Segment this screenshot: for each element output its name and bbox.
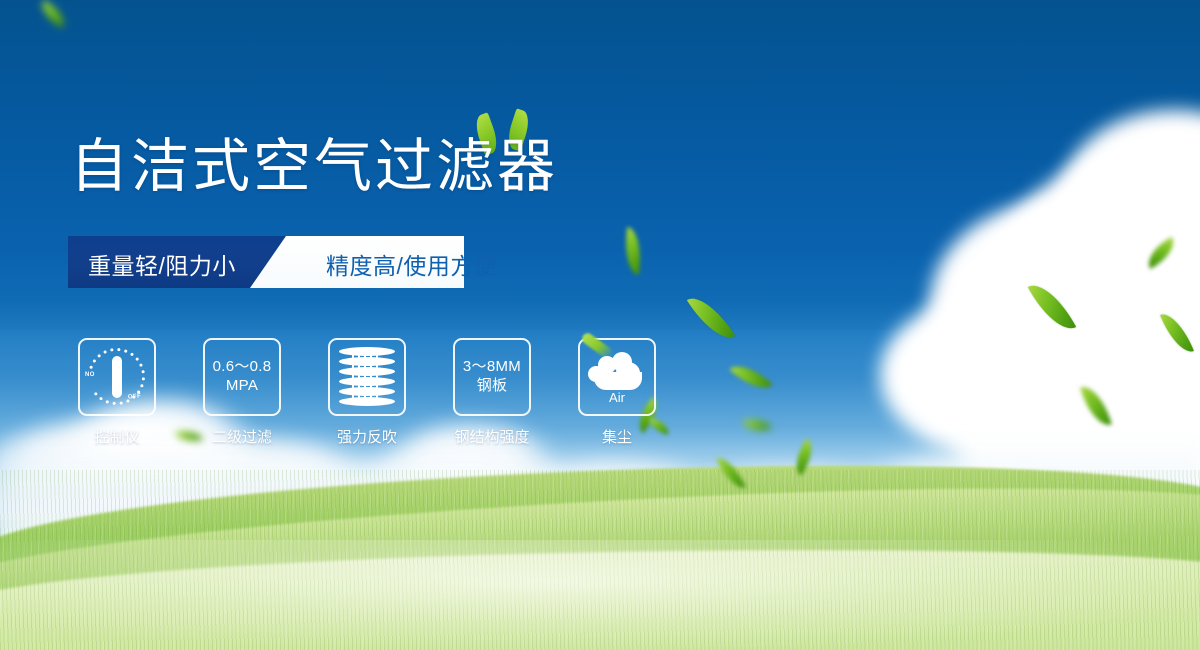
- feature-item-strong-blowback[interactable]: 强力反吹: [328, 338, 406, 447]
- feature-icon-box: [328, 338, 406, 416]
- feature-icon-box: NO OFF: [78, 338, 156, 416]
- pressure-value-icon: 0.6～0.8 MPA: [213, 358, 272, 396]
- feature-label: 钢结构强度: [454, 426, 529, 447]
- feature-item-dust-collection[interactable]: Air 集尘: [578, 338, 656, 447]
- feature-item-two-stage-filter[interactable]: 0.6～0.8 MPA 二级过滤: [203, 338, 281, 447]
- steel-material: 钢板: [463, 377, 521, 396]
- steel-plate-icon: 3～8MM 钢板: [463, 358, 521, 396]
- feature-item-controller[interactable]: NO OFF 控制仪: [78, 338, 156, 447]
- product-banner: 自洁式空气过滤器 重量轻/阻力小 精度高/使用方便: [0, 0, 1200, 650]
- feature-list: NO OFF 控制仪 0.6～0.8 MPA 二级过滤: [78, 338, 656, 447]
- page-title: 自洁式空气过滤器: [70, 138, 558, 196]
- gauge-label-off: OFF: [128, 393, 142, 400]
- feature-label: 控制仪: [94, 426, 139, 447]
- feature-label: 二级过滤: [212, 426, 272, 447]
- cloud-air-icon: Air: [586, 350, 648, 404]
- feature-label: 强力反吹: [337, 426, 397, 447]
- feature-icon-box: Air: [578, 338, 656, 416]
- feature-label: 集尘: [602, 426, 632, 447]
- gauge-label-no: NO: [85, 372, 95, 378]
- steel-thickness: 3～8MM: [463, 358, 521, 377]
- cloud-air-label: Air: [586, 390, 648, 405]
- pressure-unit: MPA: [213, 377, 272, 396]
- gauge-needle: [112, 356, 122, 398]
- filter-stack-icon: [339, 347, 395, 407]
- subtitle-left-text: 重量轻/阻力小: [88, 247, 236, 281]
- feature-icon-box: 0.6～0.8 MPA: [203, 338, 281, 416]
- pressure-range: 0.6～0.8: [213, 358, 272, 377]
- gauge-dial-icon: NO OFF: [84, 344, 150, 410]
- grass-highlight: [0, 540, 1200, 650]
- feature-icon-box: 3～8MM 钢板: [453, 338, 531, 416]
- subtitle-right-text: 精度高/使用方便: [326, 247, 497, 281]
- feature-item-steel-strength[interactable]: 3～8MM 钢板 钢结构强度: [453, 338, 531, 447]
